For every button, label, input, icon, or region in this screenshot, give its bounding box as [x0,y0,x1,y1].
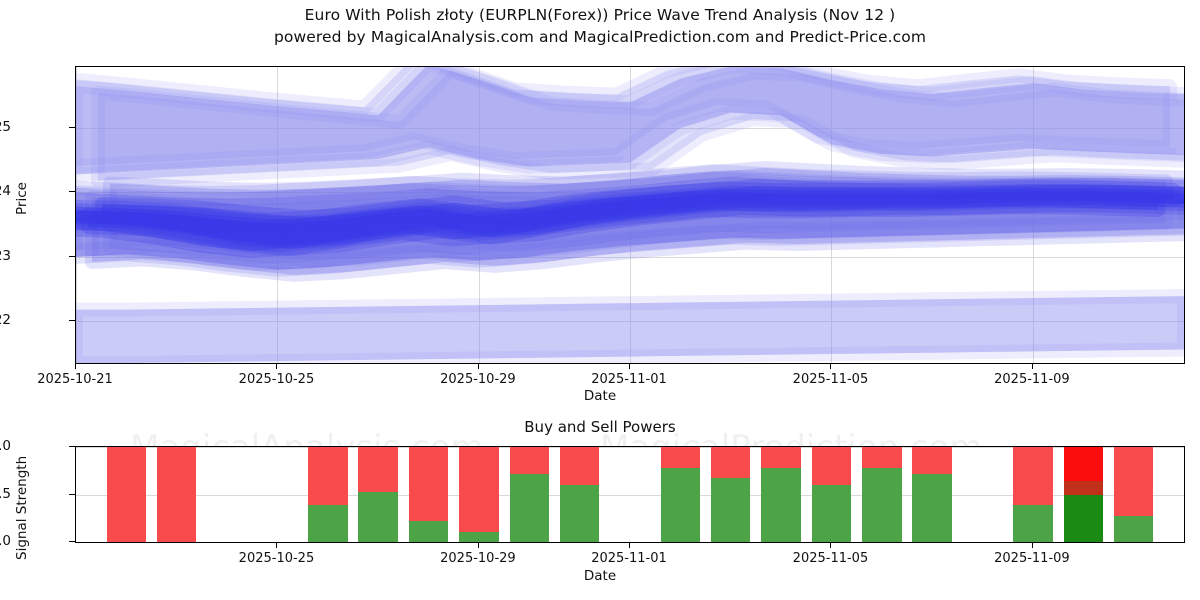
price-x-tick-label: 2025-10-29 [440,372,516,387]
sell-power-segment [157,447,197,542]
sell-power-segment [308,447,348,505]
price-x-tick-label: 2025-11-05 [793,372,869,387]
price-y-tick-label: 4.22 [0,312,11,328]
buy-power-segment [862,468,902,542]
signal-bar[interactable] [761,447,801,542]
buy-power-segment [1013,505,1053,542]
signal-x-axis-label: Date [0,568,1200,584]
price-x-axis-label: Date [0,388,1200,404]
signal-bar[interactable] [510,447,550,542]
sell-power-segment [711,447,751,478]
signal-x-tick-mark [629,543,630,548]
signal-bar[interactable] [1013,447,1053,542]
price-y-tick-mark [69,256,75,257]
signal-y-tick-mark [69,494,75,495]
signal-y-tick-mark [69,446,75,447]
price-y-tick-mark [69,127,75,128]
sell-power-segment [510,447,550,474]
price-y-tick-label: 4.25 [0,119,11,135]
signal-bar[interactable] [711,447,751,542]
signal-bar[interactable] [459,447,499,542]
buy-power-segment [711,478,751,542]
chart-page: Euro With Polish złoty (EURPLN(Forex)) P… [0,0,1200,600]
sell-power-segment [358,447,398,492]
buy-power-segment [812,485,852,542]
signal-y-axis-label: Signal Strength [14,456,30,560]
buy-power-segment [1064,495,1104,543]
signal-y-tick-label: 0.0 [0,533,11,549]
price-chart-panel [75,66,1185,364]
price-plot-area [76,67,1184,363]
signal-y-tick-label: 0.5 [0,486,11,502]
signal-chart-panel [75,446,1185,543]
price-x-tick-mark [830,364,831,369]
price-y-axis-label: Price [14,182,30,215]
wave-band-lower-support-band [76,296,1184,363]
price-wave-bands [76,67,1184,363]
signal-bar[interactable] [308,447,348,542]
signal-bar[interactable] [157,447,197,542]
signal-plot-area [76,447,1184,542]
buy-power-segment [560,485,600,542]
signal-transition-band [1064,481,1104,495]
signal-bar[interactable] [661,447,701,542]
sell-power-segment [912,447,952,474]
sell-power-segment [1013,447,1053,505]
signal-bar[interactable] [912,447,952,542]
signal-x-tick-label: 2025-10-25 [239,551,315,566]
signal-x-tick-mark [1032,543,1033,548]
sell-power-segment [560,447,600,485]
signal-x-tick-label: 2025-11-09 [994,551,1070,566]
chart-title-block: Euro With Polish złoty (EURPLN(Forex)) P… [0,4,1200,48]
buy-power-segment [661,468,701,542]
buy-power-segment [510,474,550,542]
sell-power-segment [1114,447,1154,516]
price-x-tick-mark [1032,364,1033,369]
sell-power-segment [761,447,801,468]
sell-power-segment [812,447,852,485]
buy-power-segment [912,474,952,542]
sell-power-segment [409,447,449,521]
price-x-tick-mark [276,364,277,369]
signal-bar[interactable] [358,447,398,542]
signal-y-tick-label: 1.0 [0,438,11,454]
page-subtitle: powered by MagicalAnalysis.com and Magic… [0,26,1200,48]
signal-bar[interactable] [107,447,147,542]
buy-power-segment [761,468,801,542]
signal-x-tick-label: 2025-10-29 [440,551,516,566]
signal-x-tick-mark [478,543,479,548]
signal-bar[interactable] [409,447,449,542]
buy-power-segment [409,521,449,542]
signal-x-tick-label: 2025-11-01 [591,551,667,566]
price-x-tick-mark [478,364,479,369]
signal-chart-title: Buy and Sell Powers [0,418,1200,436]
price-x-tick-mark [629,364,630,369]
signal-bar[interactable] [862,447,902,542]
sell-power-segment [661,447,701,468]
signal-x-tick-mark [830,543,831,548]
price-y-tick-mark [69,320,75,321]
price-x-tick-label: 2025-10-21 [37,372,113,387]
signal-bar[interactable] [560,447,600,542]
signal-bar[interactable] [1064,447,1104,542]
signal-x-tick-mark [276,543,277,548]
price-x-tick-mark [75,364,76,369]
buy-power-segment [358,492,398,542]
signal-bar[interactable] [1114,447,1154,542]
buy-power-segment [308,505,348,542]
signal-bar[interactable] [812,447,852,542]
price-x-tick-label: 2025-11-01 [591,372,667,387]
signal-x-tick-label: 2025-11-05 [793,551,869,566]
price-y-tick-label: 4.23 [0,248,11,264]
price-y-tick-mark [69,191,75,192]
sell-power-segment [107,447,147,542]
sell-power-segment [862,447,902,468]
buy-power-segment [459,532,499,542]
page-title: Euro With Polish złoty (EURPLN(Forex)) P… [0,4,1200,26]
buy-power-segment [1114,516,1154,542]
signal-y-tick-mark [69,541,75,542]
price-y-tick-label: 4.24 [0,183,11,199]
price-x-tick-label: 2025-11-09 [994,372,1070,387]
price-x-tick-label: 2025-10-25 [239,372,315,387]
sell-power-segment [459,447,499,532]
